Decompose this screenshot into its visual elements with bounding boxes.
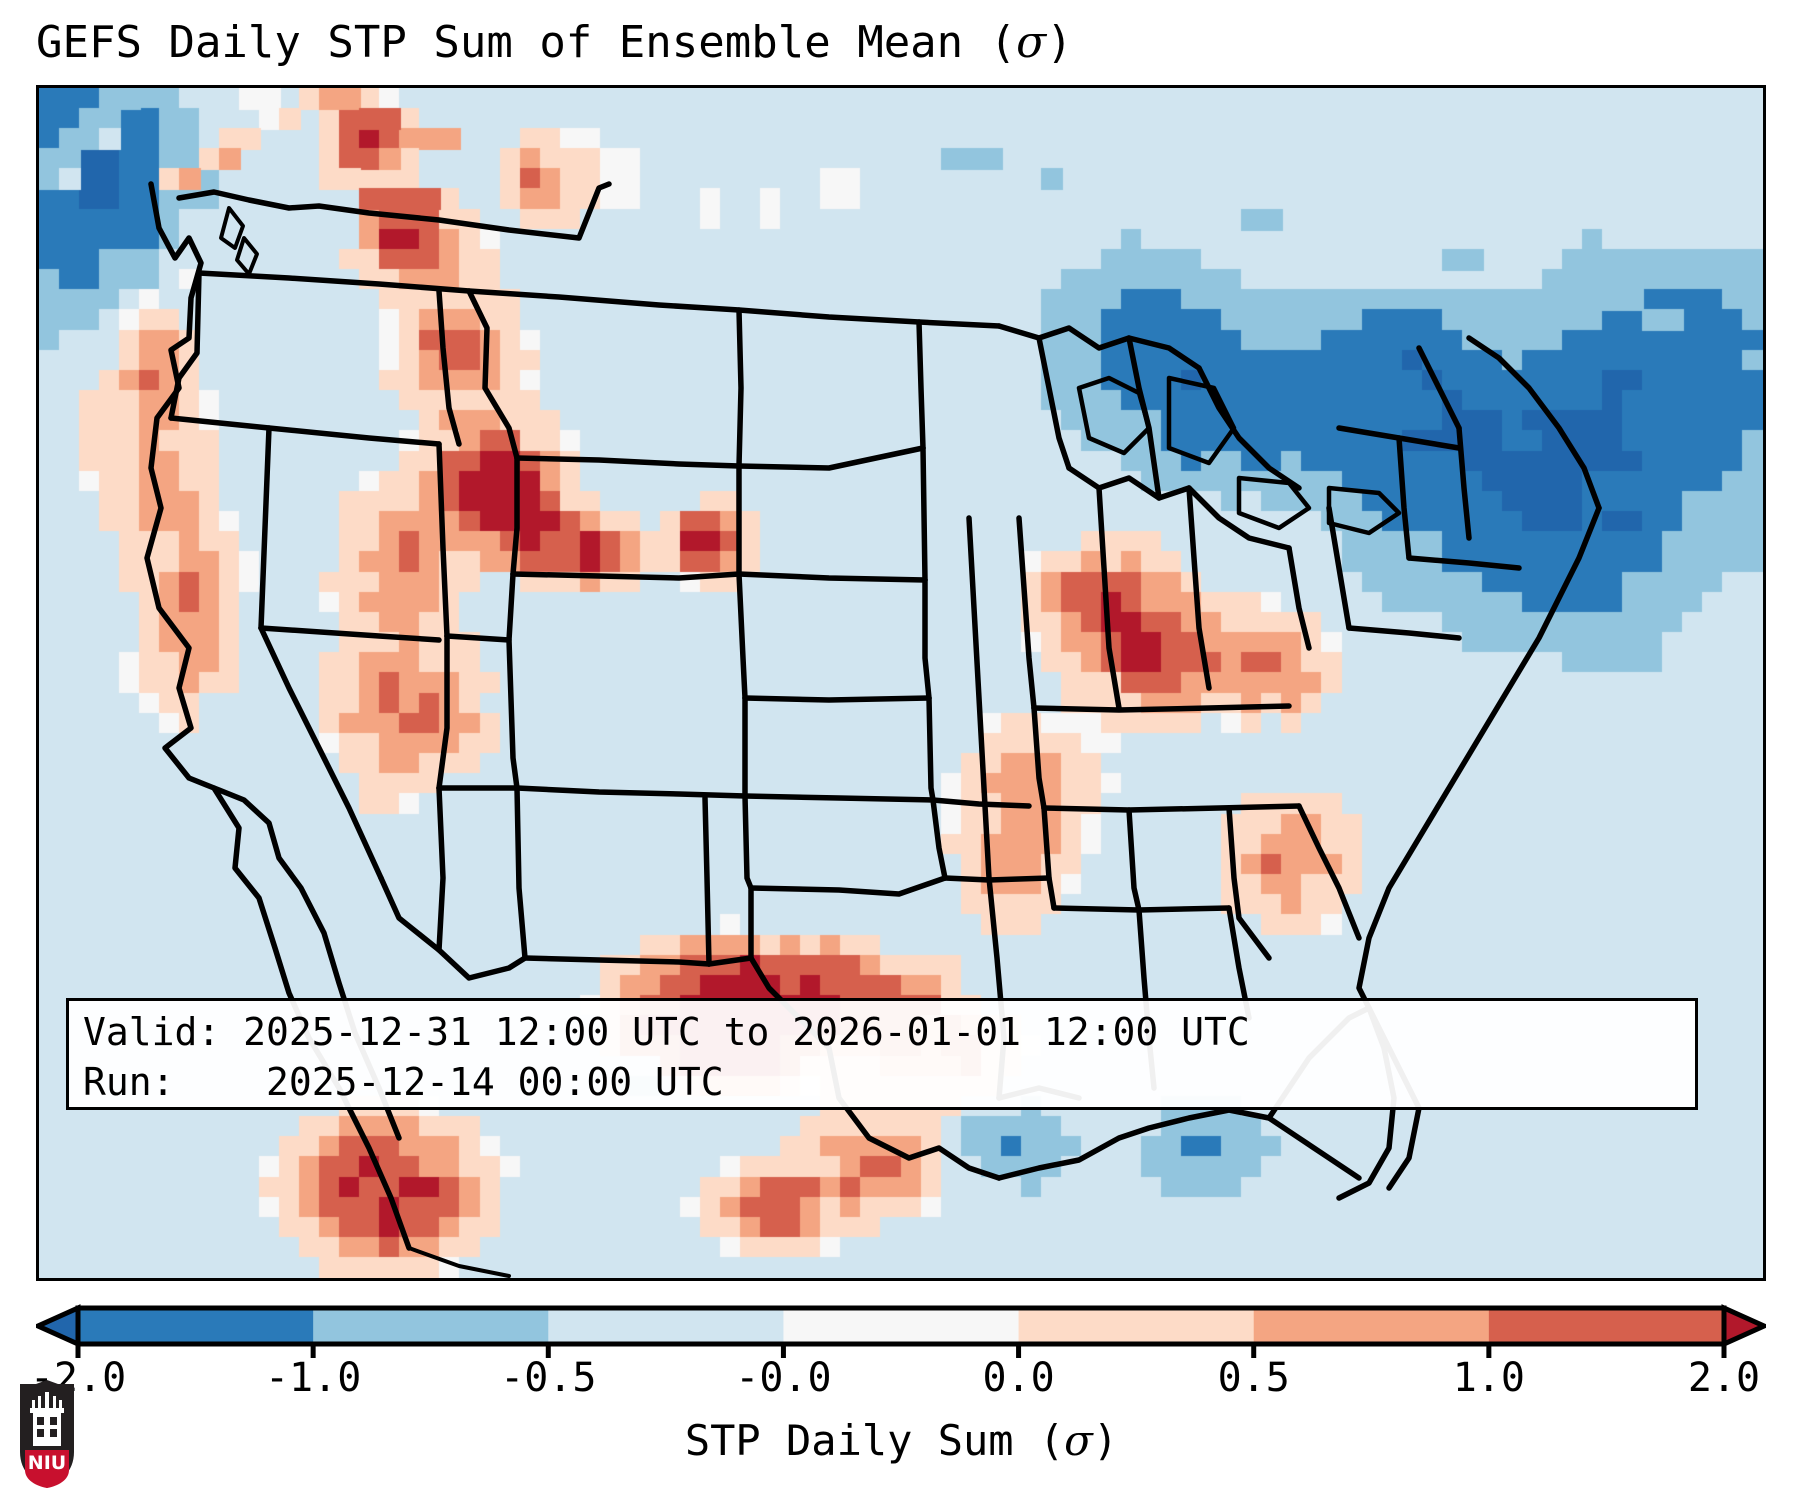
colorbar-tick-3: -0.0 bbox=[735, 1355, 831, 1401]
colorbar-tick-1: -1.0 bbox=[265, 1355, 361, 1401]
title-text-before: GEFS Daily STP Sum of Ensemble Mean ( bbox=[36, 17, 1016, 68]
cb-sigma-symbol: σ bbox=[1064, 1416, 1093, 1465]
coastline-and-state-paths bbox=[147, 184, 1599, 1276]
forecast-info-box: Valid: 2025-12-31 12:00 UTC to 2026-01-0… bbox=[66, 998, 1698, 1110]
page-title: GEFS Daily STP Sum of Ensemble Mean (σ) bbox=[36, 14, 1776, 72]
run-time-line: Run: 2025-12-14 00:00 UTC bbox=[83, 1057, 1681, 1107]
colorbar-gradient bbox=[36, 1304, 1766, 1360]
logo-text: NIU bbox=[28, 1452, 66, 1474]
colorbar-tick-6: 1.0 bbox=[1453, 1355, 1525, 1401]
sigma-symbol: σ bbox=[1016, 17, 1046, 68]
colorbar-axis-label: STP Daily Sum (σ) bbox=[0, 1416, 1803, 1465]
cb-label-after: ) bbox=[1093, 1416, 1118, 1465]
title-text-after: ) bbox=[1046, 17, 1073, 68]
colorbar-tick-4: 0.0 bbox=[982, 1355, 1054, 1401]
colorbar-tick-5: 0.5 bbox=[1218, 1355, 1290, 1401]
colorbar-tick-2: -0.5 bbox=[500, 1355, 596, 1401]
valid-time-line: Valid: 2025-12-31 12:00 UTC to 2026-01-0… bbox=[83, 1007, 1681, 1057]
colorbar-tick-7: 2.0 bbox=[1688, 1355, 1760, 1401]
map-panel: Valid: 2025-12-31 12:00 UTC to 2026-01-0… bbox=[36, 85, 1766, 1281]
cb-label-before: STP Daily Sum ( bbox=[685, 1416, 1064, 1465]
colorbar bbox=[36, 1304, 1766, 1350]
niu-logo: NIU bbox=[16, 1378, 78, 1490]
colorbar-tick-labels: -2.0-1.0-0.5-0.00.00.51.02.0 bbox=[0, 1355, 1803, 1411]
